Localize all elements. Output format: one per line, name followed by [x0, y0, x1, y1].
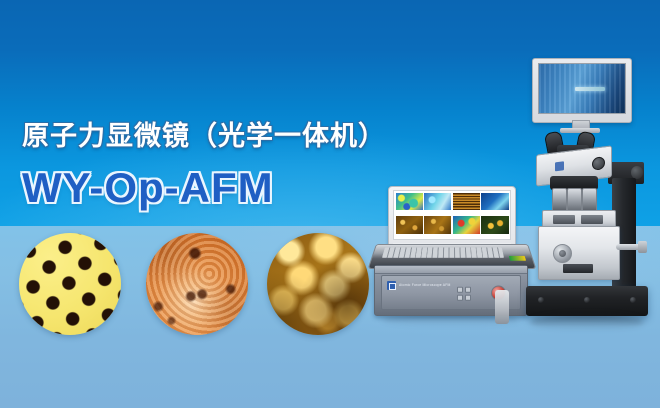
optical-afm-microscope — [512, 58, 652, 348]
scanner-slot-right — [581, 215, 603, 224]
scan-thumbnail-8-caption — [481, 234, 508, 238]
sample-1-pore-pattern — [19, 233, 121, 335]
controller-top-surface — [375, 266, 527, 274]
controller-port-1[interactable] — [457, 286, 463, 292]
scan-thumbnail-6-caption — [424, 234, 451, 238]
scan-thumbnail-7-caption — [453, 234, 480, 238]
laptop-keyboard-keys[interactable] — [382, 248, 504, 258]
scan-thumbnail-5-image — [396, 216, 423, 234]
controller-port-4[interactable] — [465, 294, 471, 300]
controller-front-label: Atomic Force Microscope AFM — [399, 282, 451, 288]
controller-port-2[interactable] — [465, 286, 471, 292]
xy-sample-stage — [538, 226, 620, 280]
sample-2-pits — [146, 233, 248, 335]
scan-thumbnail-3-caption — [453, 210, 480, 214]
controller-port-grid[interactable] — [457, 286, 471, 300]
afm-display-monitor — [532, 58, 632, 123]
scan-thumbnail-8-image — [481, 216, 508, 234]
scan-thumbnail-7-image — [453, 216, 480, 234]
scanner-slot-left — [553, 215, 575, 224]
control-laptop-lid — [388, 186, 516, 252]
scan-thumbnail-6 — [424, 216, 451, 238]
sample-holder-plate — [563, 264, 593, 273]
scan-thumbnail-5-caption — [396, 234, 423, 238]
scan-thumbnail-2 — [424, 193, 451, 215]
scan-thumbnail-3 — [453, 193, 480, 215]
scan-thumbnail-3-image — [453, 193, 480, 211]
laptop-screen — [393, 190, 511, 240]
head-adjust-knob[interactable] — [592, 156, 605, 171]
sample-image-nanopore-array — [19, 233, 121, 335]
sample-image-topography — [146, 233, 248, 335]
scan-thumbnail-1-image — [396, 193, 423, 211]
scan-thumbnail-4 — [481, 193, 508, 215]
sample-image-nanoparticles — [267, 233, 369, 335]
base-reflection — [530, 314, 644, 330]
scan-thumbnail-8 — [481, 216, 508, 238]
base-mount-hole-3 — [630, 297, 636, 303]
controller-brand-logo-icon — [387, 281, 396, 290]
stage-translation-knob[interactable] — [638, 241, 647, 253]
afm-product-banner: 原子力显微镜（光学一体机） WY-Op-AFM — [0, 0, 660, 408]
scan-thumbnail-4-caption — [481, 210, 508, 214]
scan-thumbnail-7 — [453, 216, 480, 238]
product-title-chinese: 原子力显微镜（光学一体机） — [22, 120, 386, 152]
product-model-number: WY-Op-AFM — [22, 163, 274, 213]
base-mount-hole-1 — [538, 297, 544, 303]
focus-knob[interactable] — [553, 244, 572, 263]
scan-thumbnail-4-image — [481, 193, 508, 211]
controller-port-3[interactable] — [457, 294, 463, 300]
scan-thumbnail-1 — [396, 193, 423, 215]
cantilever-live-view-icon — [575, 87, 605, 91]
scan-thumbnail-2-caption — [424, 210, 451, 214]
microscope-brand-logo-icon — [555, 161, 564, 171]
monitor-screen — [538, 63, 626, 114]
scan-thumbnail-5 — [396, 216, 423, 238]
base-mount-hole-2 — [584, 297, 590, 303]
sample-3-shading — [267, 233, 369, 335]
scan-thumbnail-2-image — [424, 193, 451, 211]
accessory-post — [495, 290, 509, 324]
scan-thumbnail-6-image — [424, 216, 451, 234]
granite-base — [526, 286, 648, 316]
scan-thumbnail-1-caption — [396, 210, 423, 214]
